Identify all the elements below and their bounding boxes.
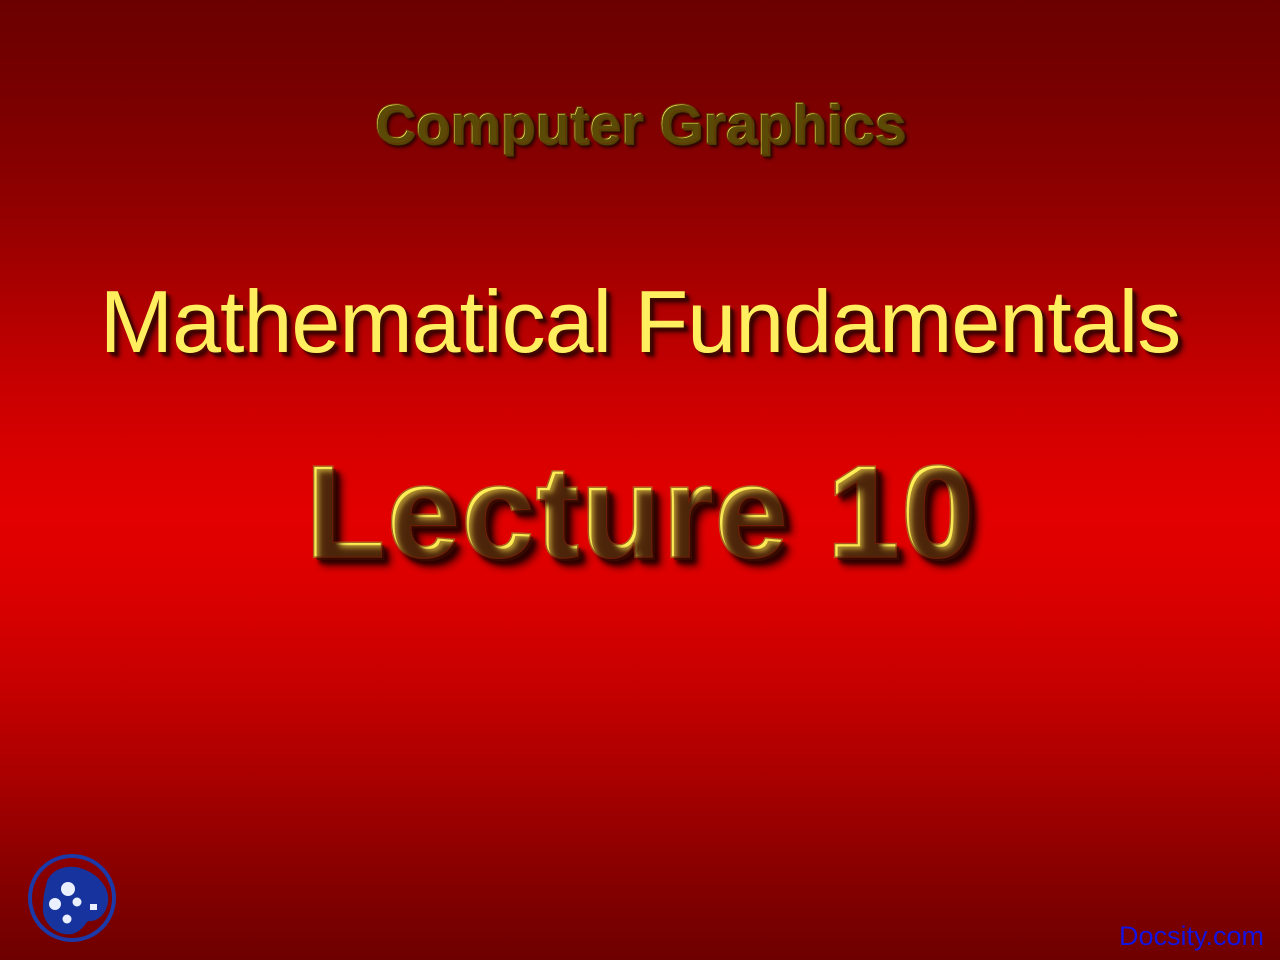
- slide-canvas: Computer Graphics Computer Graphics Math…: [0, 0, 1280, 960]
- docsity-logo: [22, 848, 126, 948]
- course-title-text: Computer Graphics: [374, 92, 905, 155]
- slide-headline: Mathematical Fundamentals: [0, 278, 1280, 366]
- lecture-number: Lecture 10 Lecture 10: [0, 446, 1280, 578]
- docsity-watermark: Docsity.com: [1119, 921, 1264, 952]
- lecture-number-text: Lecture 10: [305, 438, 975, 585]
- docsity-logo-icon: [22, 848, 126, 948]
- course-title: Computer Graphics Computer Graphics: [0, 96, 1280, 152]
- slide-headline-text: Mathematical Fundamentals: [100, 272, 1180, 371]
